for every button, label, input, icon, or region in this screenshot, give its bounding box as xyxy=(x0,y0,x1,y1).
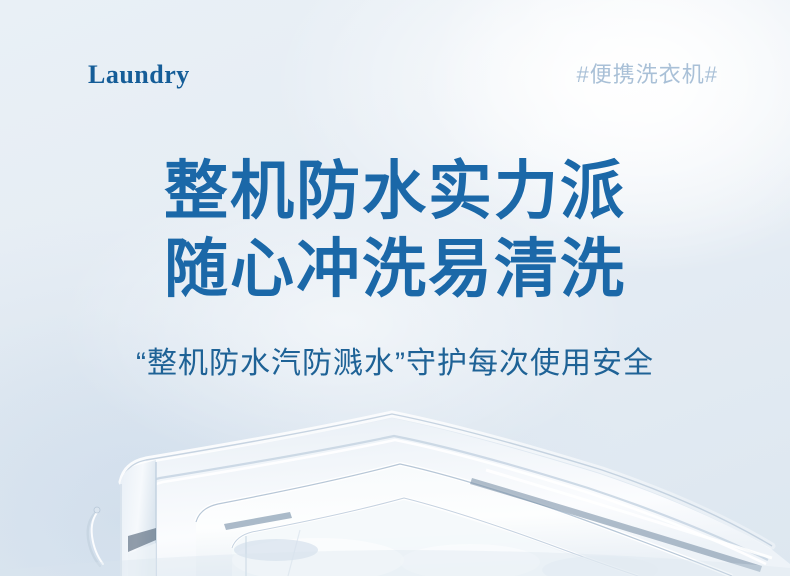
subtitle-text: “整机防水汽防溅水”守护每次使用安全 xyxy=(0,346,790,382)
lid-latch-pivot xyxy=(94,507,100,513)
headline-block: 整机防水实力派 随心冲洗易清洗 xyxy=(0,152,790,308)
product-marketing-banner: Laundry #便携洗衣机# 整机防水实力派 随心冲洗易清洗 “整机防水汽防溅… xyxy=(0,0,790,576)
hashtag-label: #便携洗衣机# xyxy=(577,64,718,86)
washer-lid-illustration xyxy=(0,400,790,576)
product-photo-washer-lid xyxy=(0,400,790,576)
headline-line-1: 整机防水实力派 xyxy=(0,152,790,230)
brand-wordmark: Laundry xyxy=(88,62,190,88)
headline-line-2: 随心冲洗易清洗 xyxy=(0,230,790,308)
